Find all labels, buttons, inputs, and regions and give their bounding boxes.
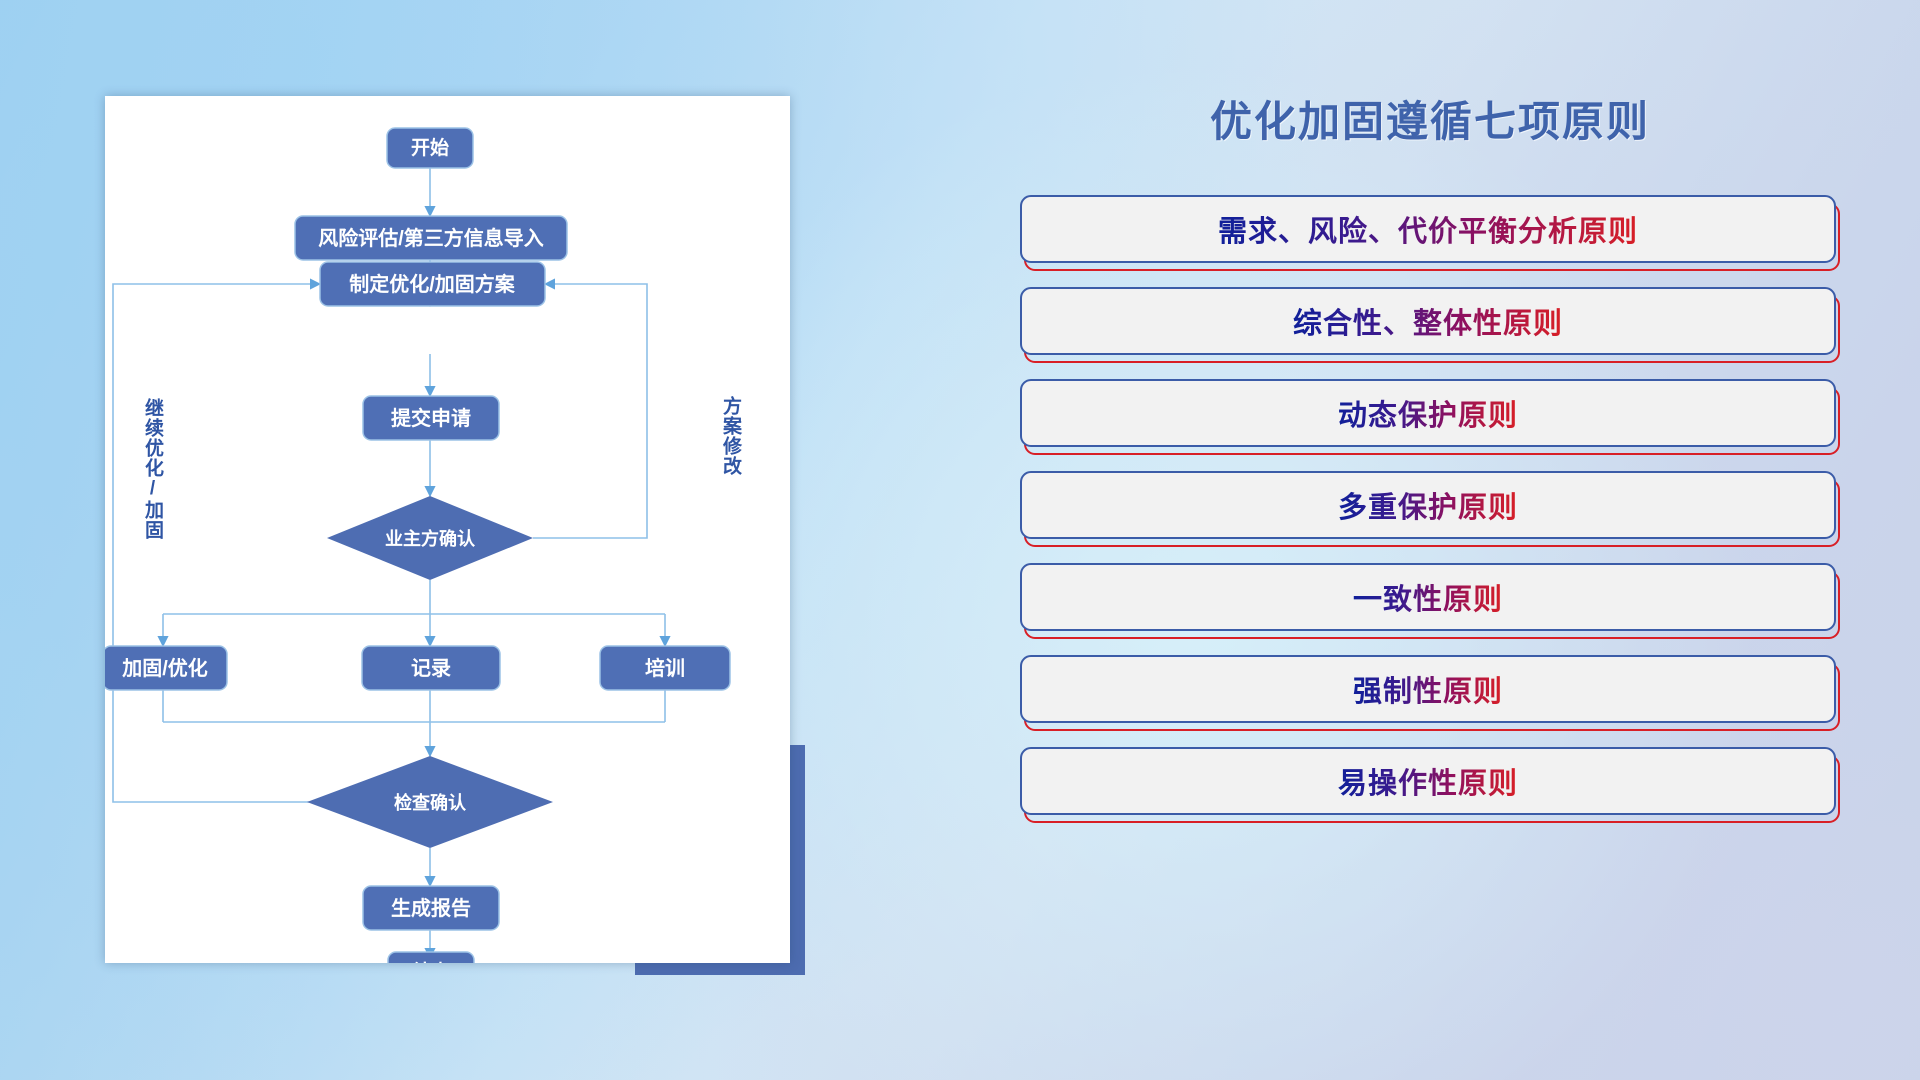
principle-card[interactable]: 动态保护原则 (1020, 379, 1836, 447)
principle-item[interactable]: 综合性、整体性原则 (1020, 287, 1840, 357)
flow-node-report-label: 生成报告 (391, 896, 471, 920)
flow-node-start-label: 开始 (411, 136, 449, 159)
flow-node-plan: 制定优化/加固方案 (320, 262, 545, 306)
flow-edge-label-plan-revision: 方案修改 (717, 396, 744, 526)
principle-label: 一致性原则 (1353, 576, 1503, 618)
principle-item[interactable]: 需求、风险、代价平衡分析原则 (1020, 195, 1840, 265)
flow-node-risk: 风险评估/第三方信息导入 (295, 216, 567, 260)
principle-label: 综合性、整体性原则 (1293, 300, 1563, 342)
flow-node-reinforce: 加固/优化 (105, 646, 227, 690)
principle-card[interactable]: 需求、风险、代价平衡分析原则 (1020, 195, 1836, 263)
flow-node-start: 开始 (387, 128, 473, 168)
principle-card[interactable]: 强制性原则 (1020, 655, 1836, 723)
principles-title: 优化加固遵循七项原则 (1020, 88, 1840, 149)
flow-node-check-label: 检查确认 (394, 792, 467, 813)
principle-item[interactable]: 一致性原则 (1020, 563, 1840, 633)
principle-card[interactable]: 一致性原则 (1020, 563, 1836, 631)
principle-label: 易操作性原则 (1338, 760, 1518, 802)
principle-label: 需求、风险、代价平衡分析原则 (1218, 208, 1638, 250)
flow-node-end: 结束 (388, 952, 474, 963)
flow-node-owner-confirm-label: 业主方确认 (385, 528, 476, 549)
principle-card[interactable]: 综合性、整体性原则 (1020, 287, 1836, 355)
principle-label: 多重保护原则 (1338, 484, 1518, 526)
principles-panel: 优化加固遵循七项原则 需求、风险、代价平衡分析原则 综合性、整体性原则 动态保护… (1020, 88, 1840, 1008)
principle-item[interactable]: 强制性原则 (1020, 655, 1840, 725)
principle-card[interactable]: 易操作性原则 (1020, 747, 1836, 815)
principle-card[interactable]: 多重保护原则 (1020, 471, 1836, 539)
principle-item[interactable]: 易操作性原则 (1020, 747, 1840, 817)
flow-node-owner-confirm: 业主方确认 (327, 496, 533, 580)
flow-node-training-label: 培训 (645, 656, 685, 680)
flow-node-report: 生成报告 (363, 886, 499, 930)
flow-node-submit-label: 提交申请 (391, 406, 471, 430)
principle-item[interactable]: 多重保护原则 (1020, 471, 1840, 541)
flow-edge-label-continue-optimize: 继续优化/加固 (139, 398, 166, 558)
flow-node-reinforce-label: 加固/优化 (121, 656, 208, 680)
flow-node-risk-label: 风险评估/第三方信息导入 (318, 226, 544, 250)
flow-node-record-label: 记录 (411, 657, 451, 680)
flow-node-submit: 提交申请 (363, 396, 499, 440)
flow-node-plan-label: 制定优化/加固方案 (349, 272, 516, 296)
flowchart-diagram: 开始 风险评估/第三方信息导入 制定优化/加固方案 提交申请 业主方确认 加固/… (105, 96, 790, 963)
flow-node-training: 培训 (600, 646, 730, 690)
principle-label: 动态保护原则 (1338, 392, 1518, 434)
flow-node-record: 记录 (362, 646, 500, 690)
principle-item[interactable]: 动态保护原则 (1020, 379, 1840, 449)
flowchart-panel: 开始 风险评估/第三方信息导入 制定优化/加固方案 提交申请 业主方确认 加固/… (105, 96, 790, 963)
flow-node-check: 检查确认 (307, 756, 553, 848)
principle-label: 强制性原则 (1353, 668, 1503, 710)
